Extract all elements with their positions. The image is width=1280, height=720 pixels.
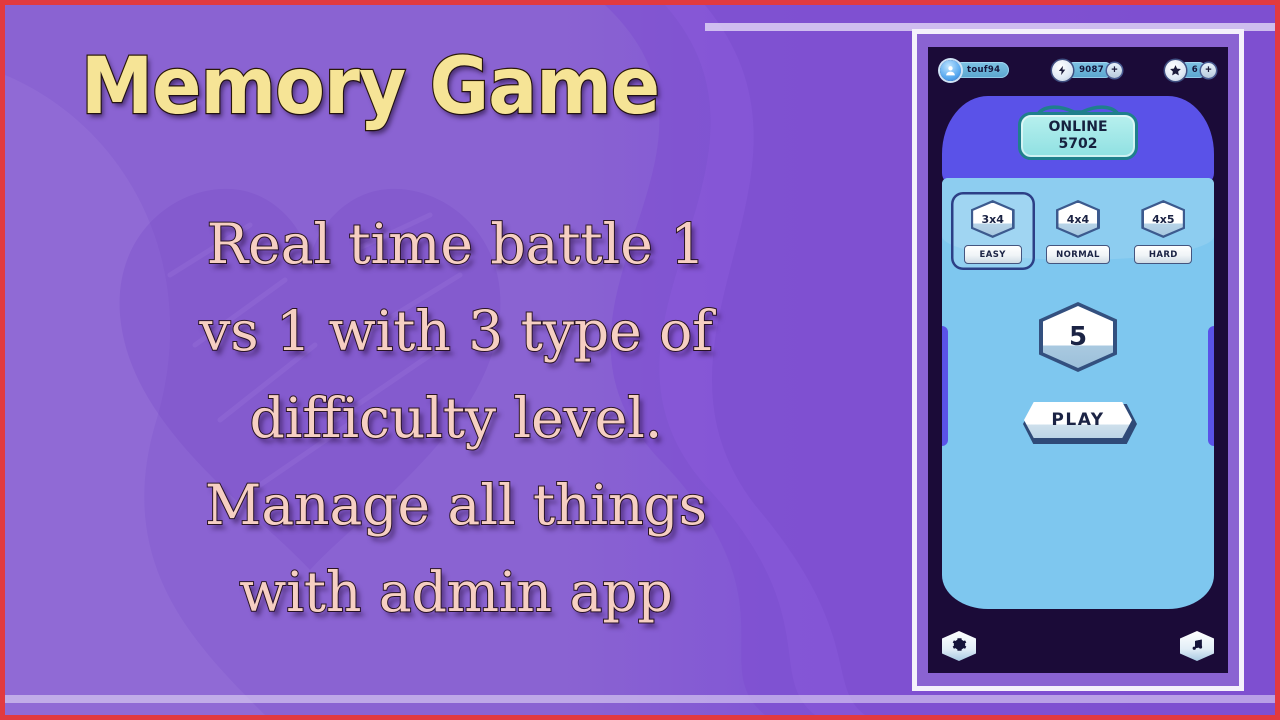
side-tab-right [1208,326,1214,446]
promo-line-4: Manage all things [71,462,841,549]
username-label: touf94 [954,62,1009,78]
grid-size-hexagon-hard: 4x5 [1141,200,1185,238]
difficulty-option-normal[interactable]: 4x4 NORMAL [1036,192,1120,270]
online-label: ONLINE [1048,119,1107,136]
star-badge[interactable]: 6 + [1165,60,1216,81]
online-banner: ONLINE 5702 [1018,112,1138,160]
user-avatar-icon [940,60,961,81]
grid-size-normal: 4x4 [1067,213,1089,226]
difficulty-option-easy[interactable]: 3x4 EASY [951,192,1035,270]
promo-line-2: vs 1 with 3 type of [71,288,841,375]
promo-background: Memory Game Real time battle 1 vs 1 with… [5,5,1275,715]
settings-button[interactable] [942,631,976,661]
gear-icon [952,637,967,655]
lightning-bolt-icon [1052,60,1073,81]
difficulty-label-normal: NORMAL [1046,245,1110,264]
difficulty-option-hard[interactable]: 4x5 HARD [1121,192,1205,270]
countdown-value: 5 [1069,322,1087,352]
countdown-hexagon: 5 [1039,302,1117,372]
difficulty-selector: 3x4 EASY 4x4 NORMAL 4x5 [942,192,1214,270]
promo-line-1: Real time battle 1 [71,201,841,288]
main-panel: 3x4 EASY 4x4 NORMAL 4x5 [942,178,1214,609]
hud-bar: touf94 9087 + [928,47,1228,93]
page-title: Memory Game [81,47,659,127]
music-button[interactable] [1180,631,1214,661]
star-icon [1165,60,1186,81]
grid-size-hexagon-normal: 4x4 [1056,200,1100,238]
difficulty-label-easy: EASY [964,245,1022,264]
energy-badge[interactable]: 9087 + [1052,60,1122,81]
grid-size-hexagon-easy: 3x4 [971,200,1015,238]
difficulty-label-hard: HARD [1134,245,1192,264]
energy-add-button[interactable]: + [1107,63,1122,78]
app-screen: touf94 9087 + [928,47,1228,673]
grid-size-hard: 4x5 [1152,213,1174,226]
phone-mockup-frame: touf94 9087 + [912,29,1244,691]
promo-description: Real time battle 1 vs 1 with 3 type of d… [71,201,841,636]
grid-size-easy: 3x4 [981,213,1003,226]
promo-line-3: difficulty level. [71,375,841,462]
play-button-label: PLAY [1051,410,1104,430]
online-count: 5702 [1059,136,1098,153]
promo-line-5: with admin app [71,549,841,636]
energy-value: 9087 [1066,62,1113,78]
star-add-button[interactable]: + [1201,63,1216,78]
side-tab-left [942,326,948,446]
header-panel: ONLINE 5702 [942,96,1214,185]
promo-stage: Memory Game Real time battle 1 vs 1 with… [5,5,1275,715]
profile-badge[interactable]: touf94 [940,60,1009,81]
music-note-icon [1190,637,1205,655]
play-button[interactable]: PLAY [1024,402,1132,438]
